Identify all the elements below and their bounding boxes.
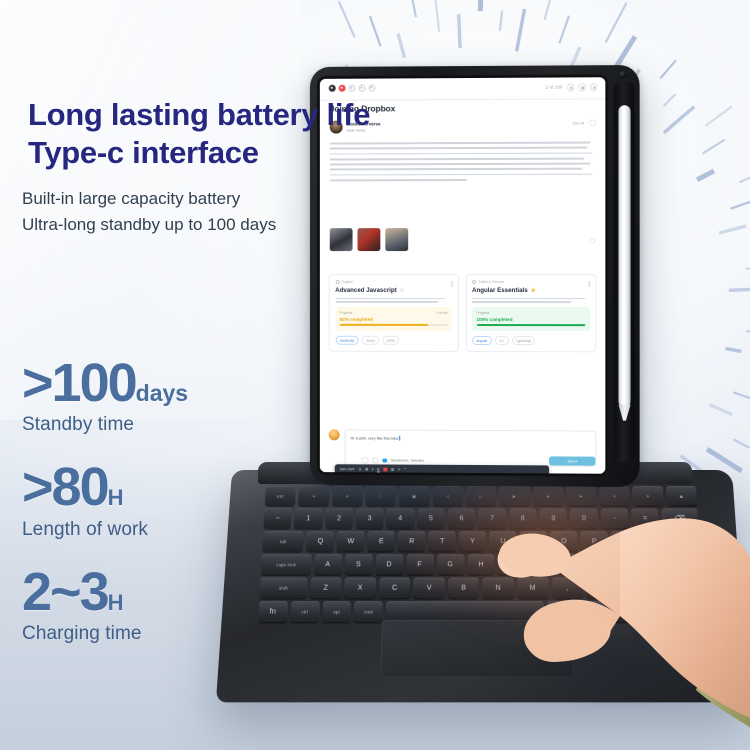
attachment-more-icon[interactable] [589,238,595,244]
card-tags: Angular CLI TypeScript [472,336,590,345]
stat-standby-time: >100days Standby time [22,358,188,436]
key-cmd[interactable]: cmd [354,601,383,622]
stat-unit: days [136,380,188,406]
key-2[interactable]: 2 [325,508,353,528]
key-c[interactable]: C [379,578,411,599]
key-q[interactable]: Q [306,531,334,551]
stat-value-row: 2~3H [22,567,188,618]
key-s[interactable]: S [344,554,372,574]
key-z[interactable]: Z [310,578,342,599]
stat-label: Length of work [22,519,188,541]
stat-unit: H [108,590,124,615]
text-caret [399,436,400,440]
card-menu-icon[interactable] [589,281,591,288]
progress-label: Progress [340,311,353,315]
card-title: Angular Essentials ★ [472,287,590,294]
previous-page-icon[interactable] [567,83,575,91]
star-filled-icon[interactable]: ★ [531,288,536,294]
key-fn[interactable]: fn [258,601,288,622]
composer-textarea[interactable]: Hi Justin, very like this idea Sans Seri… [345,429,597,466]
tag-chip[interactable]: JSON [382,336,399,345]
stat-unit: H [108,485,124,510]
globe-icon [472,280,476,284]
stylus-pencil[interactable] [618,105,630,406]
app-toolbar-right: 2 of 108 [546,83,597,91]
card-title-text: Advanced Javascript [335,287,396,294]
tag-chip[interactable]: JavaScript [335,336,358,345]
stat-value-row: >80H [22,462,188,513]
progress-header: Progress [476,311,585,315]
key-tab[interactable]: tab [262,531,304,551]
key-shift[interactable]: shift [259,578,307,599]
subtitle-block: Built-in large capacity battery Ultra-lo… [22,186,276,238]
stat-label: Standby time [22,414,188,436]
tag-chip[interactable]: CLI [495,336,509,345]
key-x[interactable]: X [344,578,376,599]
text-color-icon[interactable] [384,468,387,471]
align-icon[interactable]: ☰ [391,468,394,472]
subtitle-line-2: Ultra-long standby up to 100 days [22,212,276,238]
card-description [472,297,590,302]
course-card-advanced-javascript[interactable]: English Advanced Javascript ☆ Pro [329,274,459,352]
key-ctrl[interactable]: ctrl [290,601,320,622]
progress-panel: Progress 100% completed [472,307,590,331]
window-control-icon-5[interactable] [368,85,374,92]
key-g[interactable]: G [436,554,464,574]
time-left-label: 2 hrs left [435,311,447,315]
key-f[interactable]: F [406,554,434,574]
camera-icon [619,71,626,78]
stat-prefix: > [22,457,52,517]
key-r[interactable]: R [398,531,426,551]
headline-block: Long lasting battery life Type-c interfa… [28,96,428,172]
location-label: Stockholm, Sweden [391,459,424,463]
card-category-label: English [342,280,353,284]
send-button[interactable]: Send [549,456,595,465]
headline-line-2: Type-c interface [28,134,428,172]
key-e[interactable]: E [367,531,395,551]
card-category-label: Polish & German [478,280,504,284]
key-v[interactable]: V [413,578,445,599]
key-4[interactable]: 4 [386,508,414,528]
stat-length-of-work: >80H Length of work [22,462,188,540]
key-3[interactable]: 3 [356,508,384,528]
progress-track [340,324,448,326]
progress-track [476,324,585,326]
headline-line-1: Long lasting battery life [28,96,428,134]
progress-panel: Progress 2 hrs left 82% completed [335,307,452,331]
key-t[interactable]: T [428,531,456,551]
card-category: English [335,280,452,284]
subtitle-line-1: Built-in large capacity battery [22,186,276,212]
pagination-label: 2 of 108 [546,85,563,90]
attach-image-icon[interactable] [361,457,367,464]
tag-chip[interactable]: Angular [472,336,492,345]
card-tags: JavaScript Vue.js JSON [335,336,452,345]
stat-charging-time: 2~3H Charging time [22,567,188,645]
settings-gear-icon[interactable] [590,83,598,91]
key-w[interactable]: W [337,531,365,551]
mail-date: Oct 14 [572,121,584,126]
stat-number: 2~3 [22,562,108,622]
stat-value-row: >100days [22,358,188,409]
stats-block: >100days Standby time >80H Length of wor… [22,358,188,671]
tag-chip[interactable]: TypeScript [512,336,536,345]
card-description [335,297,452,302]
mail-image-attachments[interactable] [330,228,408,251]
key-▣[interactable]: ▣ [399,486,430,506]
composer-avatar [329,429,340,440]
progress-fill [340,324,428,326]
card-title-text: Angular Essentials [472,287,528,294]
progress-header: Progress 2 hrs left [340,311,448,315]
list-icon[interactable]: ≡ [398,468,400,472]
key-1[interactable]: 1 [294,508,323,528]
italic-icon[interactable]: I [372,467,373,471]
composer-message: Hi Justin, very like this idea [351,435,399,440]
progress-percent-text: 100% completed [476,317,585,322]
key-opt[interactable]: opt [322,601,352,622]
underline-icon[interactable]: U [377,467,380,471]
window-control-icon-3[interactable] [349,85,355,92]
window-control-icon-2[interactable] [339,85,345,92]
key-☀[interactable]: ☀ [332,486,363,506]
composer-text-value: Hi Justin, very like this idea [351,435,400,440]
stat-number: 100 [52,353,136,413]
card-menu-icon[interactable] [451,281,453,287]
font-family-select[interactable]: Sans Serif [340,467,355,471]
key-5[interactable]: 5 [417,508,445,528]
progress-label: Progress [476,311,489,315]
image-thumbnail[interactable] [330,228,353,251]
reply-composer: Hi Justin, very like this idea Sans Seri… [329,429,597,466]
globe-icon [335,280,339,284]
key-□[interactable]: □ [365,486,396,506]
course-card-angular-essentials[interactable]: Polish & German Angular Essentials ★ [466,274,597,352]
tag-chip[interactable]: Vue.js [362,336,379,345]
bold-icon[interactable]: B [365,467,368,471]
card-title: Advanced Javascript ☆ [335,287,452,294]
font-size-select[interactable]: 11 [358,467,361,471]
stat-label: Charging time [22,623,188,645]
key-~[interactable]: ~ [263,508,292,528]
quote-icon[interactable]: ” [404,468,406,472]
hand-on-keyboard [470,470,750,750]
key-esc[interactable]: esc [265,486,296,506]
emoji-icon[interactable] [372,457,378,464]
key-a[interactable]: A [314,554,342,574]
stat-number: 80 [52,457,108,517]
key-☀[interactable]: ☀ [298,486,329,506]
key-◁[interactable]: ◁ [432,486,463,506]
progress-percent-text: 82% completed [340,317,448,322]
key-caps-lock[interactable]: caps lock [261,554,312,574]
location-pin-icon [382,458,386,463]
course-cards: English Advanced Javascript ☆ Pro [329,274,597,352]
composer-row: Hi Justin, very like this idea Sans Seri… [329,429,597,466]
star-outline-icon[interactable]: ☆ [400,287,404,293]
card-category: Polish & German [472,280,590,284]
window-control-icon-1[interactable] [329,85,335,92]
stat-prefix: > [22,353,52,413]
key-d[interactable]: D [375,554,403,574]
progress-fill [476,324,585,326]
image-thumbnail[interactable] [385,228,408,251]
next-page-icon[interactable] [578,83,586,91]
window-control-icon-4[interactable] [359,85,365,92]
image-thumbnail[interactable] [358,228,381,251]
chevron-down-icon[interactable] [589,119,596,126]
